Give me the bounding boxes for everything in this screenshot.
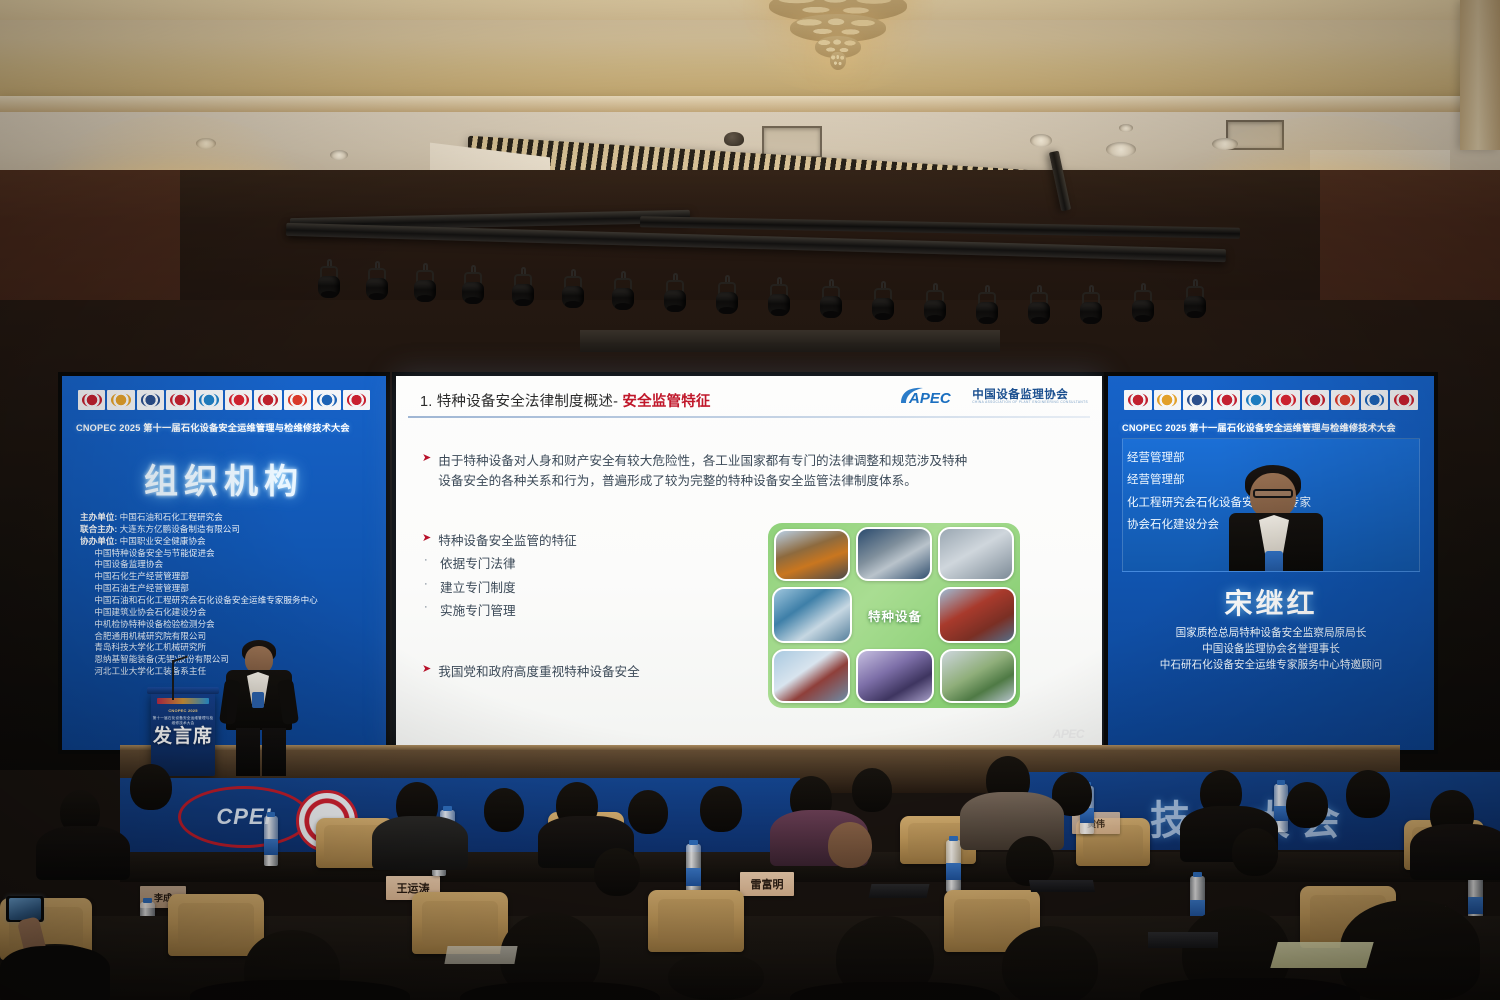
conference-tag: CNOPEC 2025 xyxy=(76,423,141,433)
sponsor-logo-6 xyxy=(225,390,252,410)
sponsor-logo-mark xyxy=(199,393,219,406)
slide-bullet-1: ➤ 由于特种设备对人身和财产安全有较大危险性，各工业国家都有专门的法律调整和规范… xyxy=(422,451,1062,492)
sponsor-logo-mark xyxy=(111,393,131,406)
organizer-value: 中国设备监理协会 xyxy=(94,559,163,569)
audience-chair xyxy=(168,894,264,956)
foreground-audience-head xyxy=(668,952,764,1000)
audience-head xyxy=(484,788,524,832)
water-bottle xyxy=(946,840,961,892)
sponsor-logo-strip xyxy=(1124,390,1418,410)
sponsor-logo-strip xyxy=(78,390,370,410)
on-stage-presenter xyxy=(214,640,310,770)
slide-watermark: APEC xyxy=(1053,727,1084,741)
laptop[interactable] xyxy=(1148,932,1218,948)
ropeway-photo xyxy=(856,649,934,703)
sponsor-logo-5 xyxy=(196,390,223,410)
sponsor-logo-mark xyxy=(288,393,308,406)
sponsor-logo-1 xyxy=(78,390,105,410)
sub-bullet-text: 依据专门法律 xyxy=(440,554,516,574)
stage-header-beam xyxy=(580,330,1000,352)
amusement-ride-photo xyxy=(772,649,850,703)
speaker-titles: 国家质检总局特种设备安全监察局原局长中国设备监理协会名誉理事长中石研石化设备安全… xyxy=(1108,626,1434,674)
speaker-title-line: 国家质检总局特种设备安全监察局原局长 xyxy=(1108,626,1434,642)
sponsor-logo-10 xyxy=(1390,390,1418,410)
ceiling-downlight-icon xyxy=(1119,124,1133,132)
sponsor-logo-mark xyxy=(1157,393,1177,406)
sponsor-logo-2 xyxy=(1154,390,1182,410)
chandelier-center xyxy=(748,0,928,74)
site-vehicle-photo xyxy=(940,649,1016,703)
ceiling-column xyxy=(1460,0,1500,150)
boiler-photo xyxy=(774,529,850,581)
sponsor-logo-3 xyxy=(1183,390,1211,410)
ceiling-downlight-icon xyxy=(1212,138,1238,150)
organizer-value: 大连东方亿鹏设备制造有限公司 xyxy=(120,524,240,534)
escalator-photo xyxy=(772,587,852,643)
organizer-value: 中国石油和石化工程研究会 xyxy=(120,512,223,522)
sponsor-logo-mark xyxy=(229,393,249,406)
organizer-row: 联合主办: 大连东方亿鹏设备制造有限公司 xyxy=(80,524,380,536)
podium-top xyxy=(147,687,219,694)
podium-label: 发言席 xyxy=(151,728,215,747)
organizer-value: 河北工业大学化工装备系主任 xyxy=(94,666,206,676)
slide-bullet-2: ➤ 特种设备安全监管的特征 · 依据专门法律 · 建立专门制度 · 实施专门管理 xyxy=(422,531,742,622)
foreground-shoulders xyxy=(790,982,1000,1000)
right-screen: CNOPEC 2025 第十一届石化设备安全运维管理与检维修技术大会 经营管理部… xyxy=(1108,376,1434,750)
pressure-vessel-photo xyxy=(856,527,932,581)
left-conference-title: CNOPEC 2025 第十一届石化设备安全运维管理与检维修技术大会 xyxy=(76,420,350,434)
stage-edge xyxy=(120,745,1400,750)
conference-tag: CNOPEC 2025 xyxy=(1122,423,1187,433)
dot-bullet-icon: · xyxy=(424,578,434,590)
left-screen-heading: 组织机构 xyxy=(62,454,386,503)
ceiling-downlight-icon xyxy=(330,150,348,160)
arrow-bullet-icon: ➤ xyxy=(422,451,431,492)
foreground-shoulders xyxy=(460,982,660,1000)
podium-conference-subtitle: 第十一届石化设备安全运维管理与检维修技术大会 xyxy=(151,716,215,726)
organizer-value: 中国石油和石化工程研究会石化设备安全运维专家服务中心 xyxy=(94,595,317,605)
organizer-row: 主办单位: 中国石油和石化工程研究会 xyxy=(80,512,380,524)
laptop[interactable] xyxy=(1029,880,1095,892)
sponsor-logo-mark xyxy=(1246,393,1266,406)
audience-head xyxy=(130,764,172,810)
foreground-shoulders xyxy=(190,980,410,1000)
right-conference-title: CNOPEC 2025 第十一届石化设备安全运维管理与检维修技术大会 xyxy=(1122,420,1396,434)
organizer-row: 中国石油生产经营管理部 xyxy=(80,583,380,595)
sponsor-logo-mark xyxy=(1187,393,1207,406)
cove-ledge xyxy=(0,96,1500,112)
sponsor-logo-mark xyxy=(1394,393,1414,406)
port-crane-photo xyxy=(938,587,1016,643)
speaker-title-line: 中国设备监理协会名誉理事长 xyxy=(1108,642,1434,658)
microphone-stand xyxy=(172,660,174,700)
sponsor-logo-9 xyxy=(1361,390,1389,410)
audience-head xyxy=(1346,770,1390,818)
organizer-row: 中国石油和石化工程研究会石化设备安全运维专家服务中心 xyxy=(80,595,380,607)
organizer-value: 青岛科技大学化工机械研究所 xyxy=(94,642,206,652)
organizer-row: 协办单位: 中国职业安全健康协会 xyxy=(80,536,380,548)
organizer-value: 中国石化生产经营管理部 xyxy=(94,571,189,581)
organizer-row: 中机检协特种设备检验检测分会 xyxy=(80,619,380,631)
organizer-value: 中机检协特种设备检验检测分会 xyxy=(94,619,214,629)
audience-shoulders xyxy=(372,816,468,870)
sub-bullet-text: 建立专门制度 xyxy=(440,578,516,598)
bullet-3-text: 我国党和政府高度重视特种设备安全 xyxy=(438,662,640,682)
slide-title-divider xyxy=(408,416,1090,418)
ceiling-speaker-icon xyxy=(1106,142,1136,157)
audience-head xyxy=(1286,782,1328,828)
sponsor-logo-mark xyxy=(1276,393,1296,406)
eyeglasses-icon xyxy=(1253,489,1293,498)
foreground-shoulders xyxy=(1140,978,1360,1000)
organizer-label: 主办单位: xyxy=(80,512,120,522)
bullet-1-text: 由于特种设备对人身和财产安全有较大危险性，各工业国家都有专门的法律调整和规范涉及… xyxy=(438,451,967,492)
apec-logo: APEC 中国设备监理协会 CHINA ASSOCIATION OF PLANT… xyxy=(899,384,1088,410)
sponsor-logo-mark xyxy=(317,393,337,406)
audience-head xyxy=(852,768,892,812)
slide-title: 1. 特种设备安全法律制度概述- 安全监管特征 xyxy=(420,390,711,411)
conference-hall-photo: CNOPEC 2025 第十一届石化设备安全运维管理与检维修技术大会 组织机构 … xyxy=(0,0,1500,1000)
sponsor-logo-3 xyxy=(137,390,164,410)
organizer-value: 合肥通用机械研究院有限公司 xyxy=(94,631,206,641)
ceiling-speaker-icon xyxy=(1030,134,1052,147)
sponsor-logo-10 xyxy=(343,390,370,410)
sponsor-logo-mark xyxy=(82,393,102,406)
presenter-badge-icon xyxy=(252,692,264,708)
audience-head xyxy=(1006,836,1054,886)
speaker-title-line: 中石研石化设备安全运维专家服务中心特邀顾问 xyxy=(1108,658,1434,674)
audience-shoulders xyxy=(1410,824,1500,880)
organizer-value: 中国建筑业协会石化建设分会 xyxy=(94,607,206,617)
sponsor-logo-4 xyxy=(1213,390,1241,410)
apec-swoosh-icon: APEC xyxy=(899,385,967,409)
audience-shoulders xyxy=(960,792,1064,850)
audience-chair xyxy=(412,892,508,954)
apec-logo-subtitle: CHINA ASSOCIATION OF PLANT ENGINEERING C… xyxy=(972,401,1088,404)
slide-title-number: 1. xyxy=(420,394,433,410)
organizer-row: 中国设备监理协会 xyxy=(80,559,380,571)
arrow-bullet-icon: ➤ xyxy=(422,662,431,682)
name-placard: 雷富明 xyxy=(740,872,794,896)
sub-bullet-text: 实施专门管理 xyxy=(440,601,516,621)
sponsor-logo-7 xyxy=(1302,390,1330,410)
organizer-row: 中国石化生产经营管理部 xyxy=(80,571,380,583)
audience-head xyxy=(1232,828,1278,876)
sponsor-logo-mark xyxy=(141,393,161,406)
sponsor-logo-mark xyxy=(170,393,190,406)
sponsor-logo-8 xyxy=(284,390,311,410)
paper-document xyxy=(1270,942,1373,968)
ceiling-downlight-icon xyxy=(196,138,216,149)
paper-document xyxy=(444,946,517,964)
slide-title-accent: 安全监管特征 xyxy=(622,394,710,410)
sponsor-logo-2 xyxy=(107,390,134,410)
speaker-podium: CNOPEC 2025 第十一届石化设备安全运维管理与检维修技术大会 发言席 xyxy=(151,692,215,776)
sponsor-logo-mark xyxy=(1365,393,1385,406)
ceiling-access-panel xyxy=(762,126,822,158)
sponsor-logo-6 xyxy=(1272,390,1300,410)
organizer-value: 中国特种设备安全与节能促进会 xyxy=(94,548,214,558)
organizer-row: 中国特种设备安全与节能促进会 xyxy=(80,548,380,560)
sponsor-logo-mark xyxy=(1305,393,1325,406)
sponsor-logo-mark xyxy=(258,393,278,406)
audience-head xyxy=(700,786,742,832)
slide-bullet-3: ➤ 我国党和政府高度重视特种设备安全 xyxy=(422,662,762,682)
sponsor-logo-mark xyxy=(1217,393,1237,406)
svg-text:APEC: APEC xyxy=(908,390,952,407)
organizer-label: 联合主办: xyxy=(80,524,120,534)
audience-shoulders xyxy=(36,826,130,880)
handheld-microphone-icon xyxy=(1265,551,1283,572)
sponsor-logo-mark xyxy=(1128,393,1148,406)
bullet-2-text: 特种设备安全监管的特征 xyxy=(438,531,577,551)
conference-name: 第十一届石化设备安全运维管理与检维修技术大会 xyxy=(143,423,350,433)
sponsor-logo-8 xyxy=(1331,390,1359,410)
equipment-grid-center-label: 特种设备 xyxy=(858,585,932,645)
pressure-pipeline-photo xyxy=(938,527,1014,581)
sponsor-logo-mark xyxy=(1335,393,1355,406)
sponsor-logo-mark xyxy=(347,393,367,406)
organizer-value: 中国石油生产经营管理部 xyxy=(94,583,189,593)
podium-conference-tag: CNOPEC 2025 xyxy=(151,708,215,713)
speaker-video-person xyxy=(1215,465,1335,572)
special-equipment-grid: 特种设备 xyxy=(768,523,1020,708)
phone-screen xyxy=(9,898,42,920)
audience-head xyxy=(594,848,640,896)
organizer-label: 协办单位: xyxy=(80,536,120,546)
dot-bullet-icon: · xyxy=(424,554,434,566)
audience-chair xyxy=(648,890,744,952)
organizer-value: 中国职业安全健康协会 xyxy=(120,536,206,546)
foreground-audience-head xyxy=(1002,926,1098,1000)
speaker-video-feed: 经营管理部经营管理部化工程研究会石化设备安全运维专家协会石化建设分会 xyxy=(1122,438,1420,572)
water-bottle xyxy=(264,816,278,866)
podium-header-band xyxy=(157,698,209,704)
slide-title-main: 特种设备安全法律制度概述- xyxy=(437,394,618,410)
conference-name: 第十一届石化设备安全运维管理与检维修技术大会 xyxy=(1189,423,1396,433)
cpei-seal-icon: CPEI xyxy=(178,786,310,848)
sponsor-logo-5 xyxy=(1242,390,1270,410)
sponsor-logo-4 xyxy=(166,390,193,410)
audience-head xyxy=(628,790,668,834)
laptop[interactable] xyxy=(869,884,930,898)
audience-head xyxy=(828,822,872,868)
security-camera-icon xyxy=(724,132,744,146)
sponsor-logo-7 xyxy=(254,390,281,410)
sponsor-logo-9 xyxy=(313,390,340,410)
organizer-row: 中国建筑业协会石化建设分会 xyxy=(80,607,380,619)
organizer-value: 恩纳基智能装备(无锡)股份有限公司 xyxy=(94,654,229,664)
photographer-shoulders xyxy=(0,946,110,1000)
arrow-bullet-icon: ➤ xyxy=(422,531,431,551)
speaker-name: 宋继红 xyxy=(1108,582,1434,622)
sponsor-logo-1 xyxy=(1124,390,1152,410)
dot-bullet-icon: · xyxy=(424,601,434,613)
